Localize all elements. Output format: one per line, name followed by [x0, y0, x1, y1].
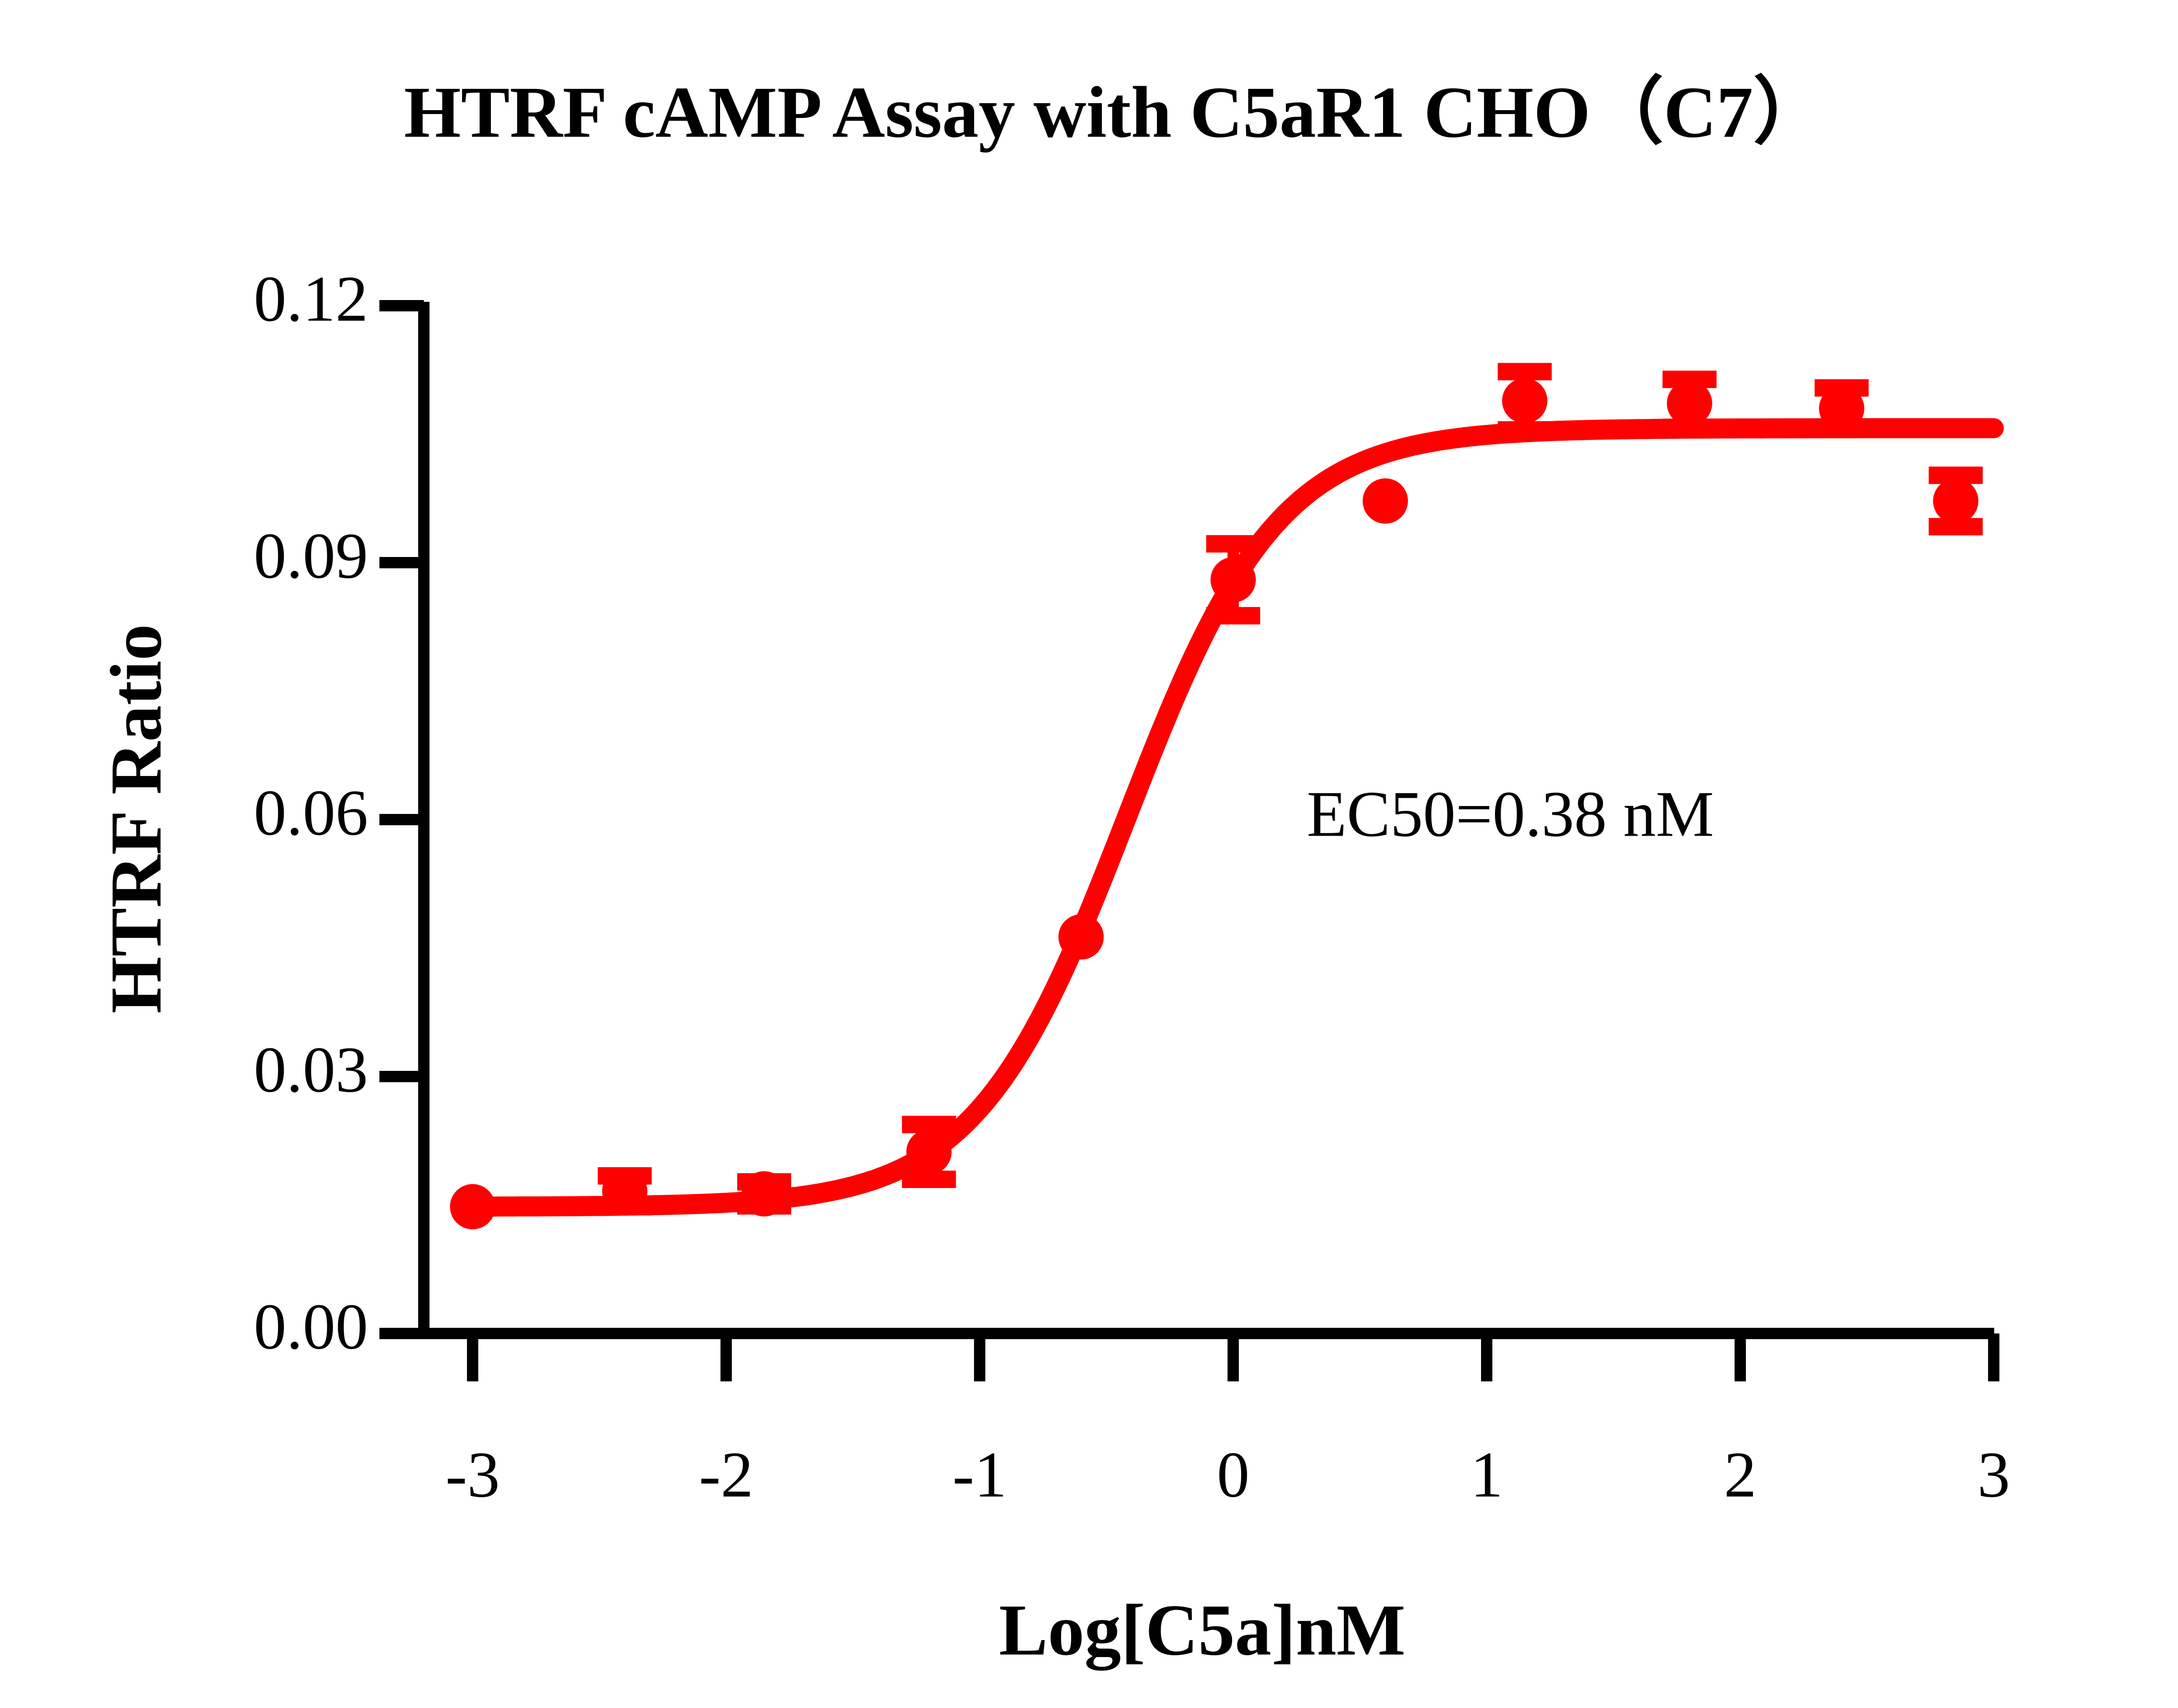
x-ticks-group: [473, 1333, 1994, 1381]
x-tick-label-1: -2: [699, 1438, 754, 1511]
data-point-marker: [1502, 378, 1547, 423]
x-tick-label-6: 3: [1978, 1438, 2010, 1511]
data-point-marker: [906, 1129, 952, 1175]
y-tick-label-3: 0.09: [254, 520, 369, 592]
x-tick-label-2: -1: [953, 1438, 1007, 1511]
x-tick-label-3: 0: [1217, 1438, 1250, 1511]
y-tick-label-0: 0.00: [254, 1290, 369, 1363]
x-tick-label-4: 1: [1471, 1438, 1503, 1511]
data-point-marker: [1819, 386, 1864, 431]
data-point-marker: [1211, 557, 1256, 602]
y-axis-title: HTRF Ratio: [96, 624, 177, 1013]
x-tick-label-5: 2: [1724, 1438, 1757, 1511]
data-point-marker: [1059, 914, 1104, 959]
data-point-marker: [602, 1169, 647, 1214]
ec50-annotation: EC50=0.38 nM: [1307, 778, 1714, 850]
chart-figure: HTRF cAMP Assay with C5aR1 CHO（C7） 0.00 …: [0, 0, 2178, 1708]
x-tick-labels-group: -3 -2 -1 0 1 2 3: [446, 1438, 2010, 1511]
x-axis-title: Log[C5a]nM: [999, 1590, 1405, 1671]
y-tick-label-4: 0.12: [254, 263, 369, 335]
y-tick-labels-group: 0.00 0.03 0.06 0.09 0.12: [254, 263, 369, 1363]
axes-group: [418, 302, 1994, 1333]
plot-canvas: 0.00 0.03 0.06 0.09 0.12 -3 -2 -1 0 1 2 …: [0, 0, 2178, 1708]
data-points-group: [450, 378, 1978, 1229]
y-tick-label-1: 0.03: [254, 1033, 369, 1106]
data-point-marker: [1363, 478, 1408, 523]
data-point-marker: [1667, 381, 1712, 426]
y-tick-label-2: 0.06: [254, 776, 369, 849]
x-tick-label-0: -3: [446, 1438, 500, 1511]
data-point-marker: [1933, 478, 1978, 523]
data-point-marker: [741, 1171, 787, 1216]
y-ticks-group: [379, 306, 424, 1333]
data-point-marker: [450, 1184, 495, 1229]
